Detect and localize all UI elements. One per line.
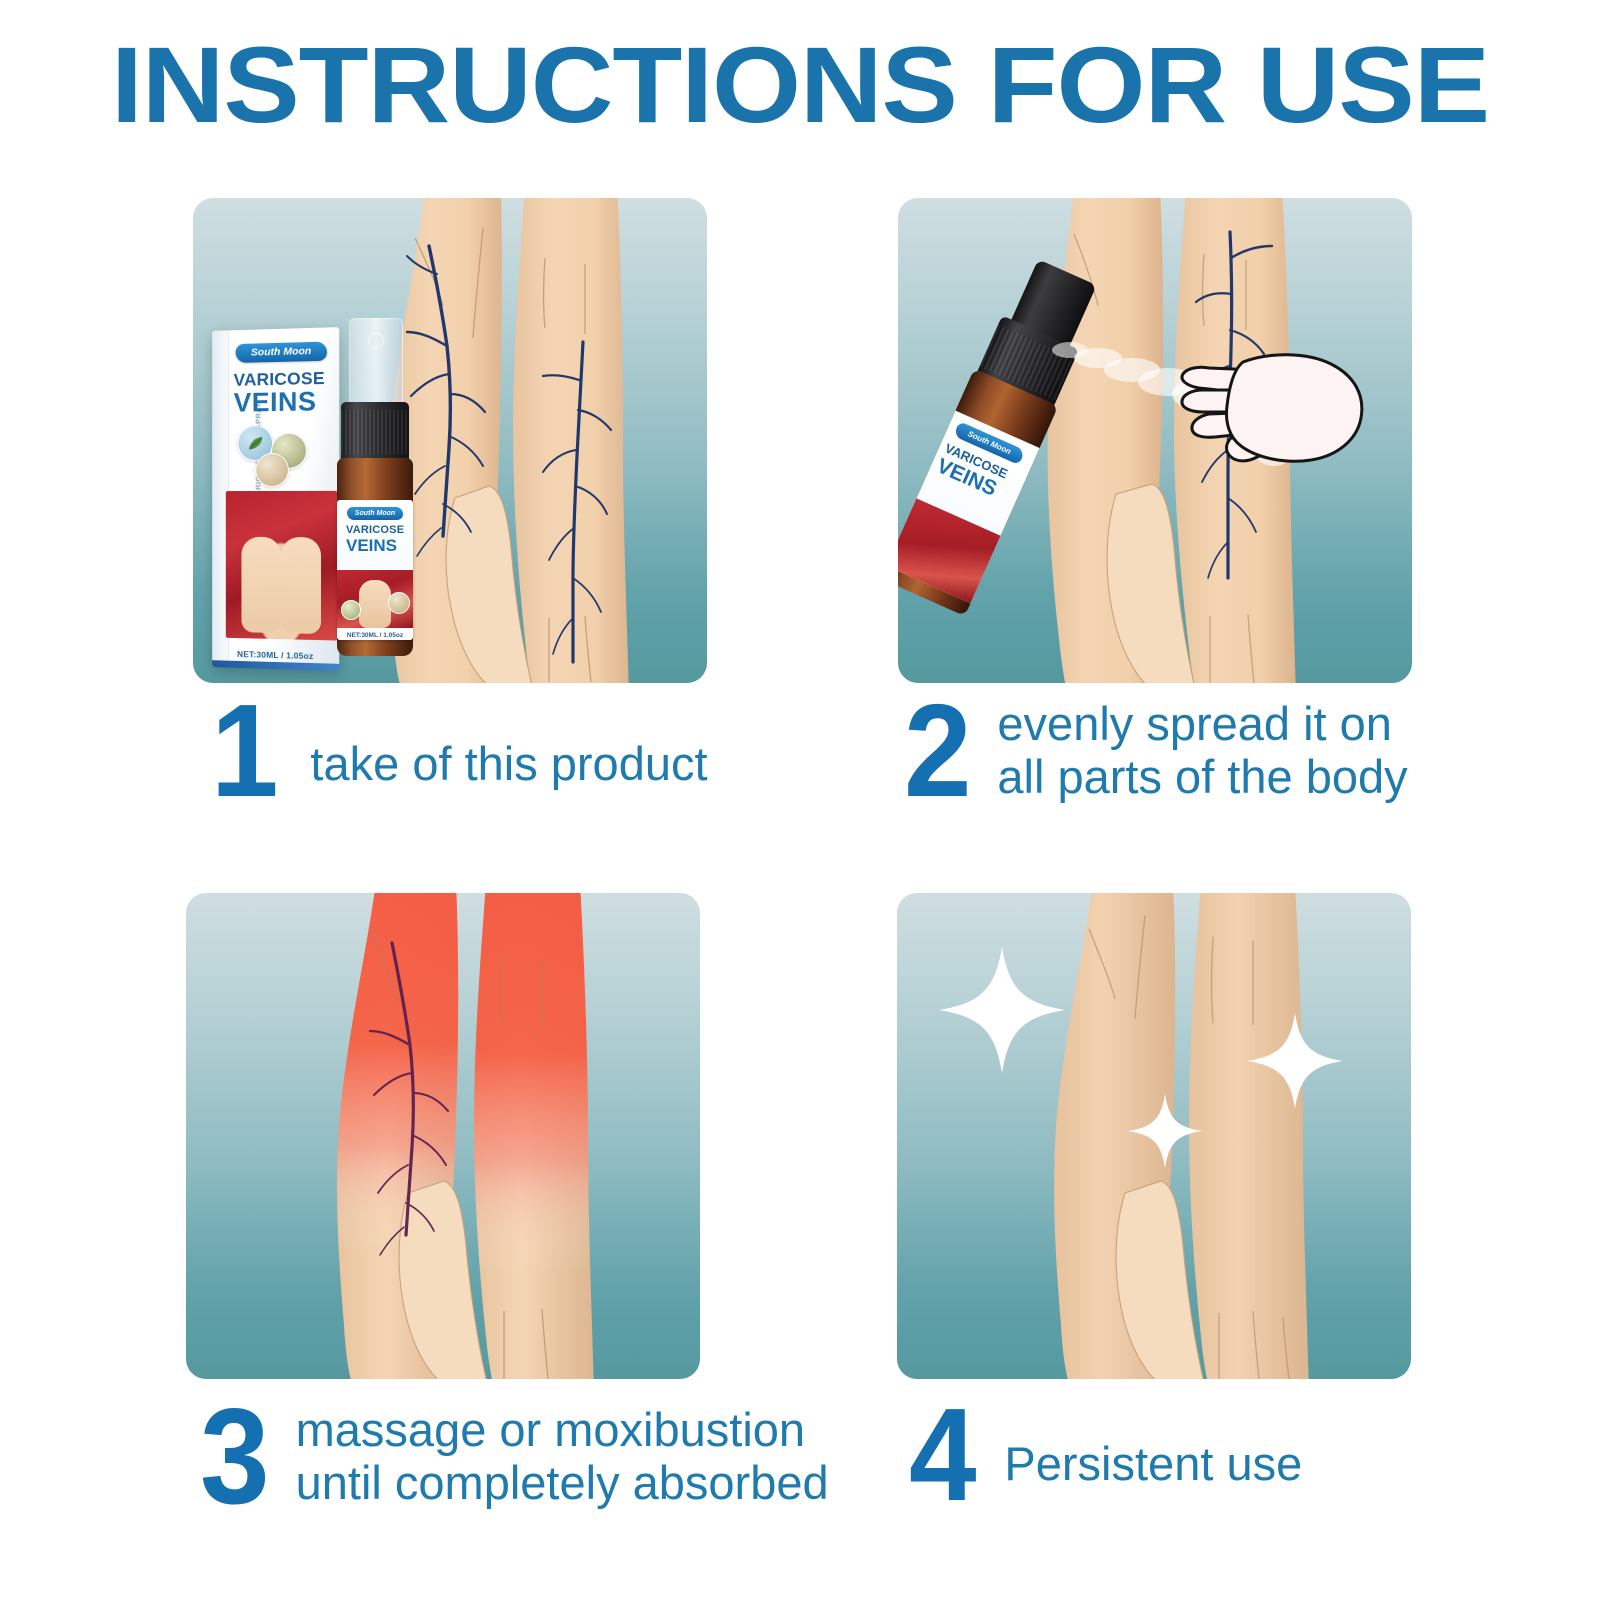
step-3-number: 3 (200, 1401, 270, 1513)
box-artwork-leg-right (281, 537, 321, 634)
product-photo-panel: VARICOSE VEINS SPRAY South Moon VARICOSE… (193, 198, 707, 683)
step-2-number: 2 (904, 697, 972, 805)
herb-circle-seed-icon (255, 453, 289, 487)
warming-massage-panel (186, 893, 700, 1379)
product-group: VARICOSE VEINS SPRAY South Moon VARICOSE… (201, 275, 471, 675)
bottle-name-line1: VARICOSE (346, 524, 404, 536)
step-4-caption: 4 Persistent use (903, 1401, 1412, 1509)
step-3-cell: 3 massage or moxibustion until completel… (186, 893, 701, 1513)
step-1-cell: VARICOSE VEINS SPRAY South Moon VARICOSE… (193, 198, 708, 805)
bottle-leg-artwork (337, 570, 413, 628)
spray-bottle: South Moon VARICOSE VEINS NET:30ML / 1.0… (319, 318, 429, 663)
hand-icon (1173, 338, 1373, 473)
step-1-text: take of this product (310, 738, 707, 791)
step-3-text: massage or moxibustion until completely … (296, 1404, 829, 1509)
box-herb-icons (236, 422, 332, 483)
leaf-icon (246, 434, 264, 452)
step-1-number: 1 (211, 697, 279, 805)
bottle-clear-overcap (349, 318, 403, 410)
legs-illustration-heated (186, 893, 700, 1379)
step-2-caption: 2 evenly spread it on all parts of the b… (904, 697, 1413, 805)
bottle-spray-pump (341, 402, 409, 464)
bottle-name-line2: VEINS (346, 536, 397, 556)
result-panel (897, 893, 1411, 1379)
legs-illustration-clear (897, 893, 1411, 1379)
bottle-net-weight: NET:30ML / 1.05oz (337, 632, 413, 639)
bottle-label: South Moon VARICOSE VEINS NET:30ML / 1.0… (337, 500, 413, 640)
steps-grid: VARICOSE VEINS SPRAY South Moon VARICOSE… (0, 198, 1600, 1398)
box-brand-banner: South Moon (236, 342, 328, 363)
step-4-number: 4 (909, 1401, 977, 1509)
step-2-cell: South Moon VARICOSE VEINS (898, 198, 1413, 805)
spray-application-panel: South Moon VARICOSE VEINS (898, 198, 1412, 683)
box-artwork-leg-left (241, 537, 281, 633)
step-2-text: evenly spread it on all parts of the bod… (997, 698, 1407, 803)
step-1-caption: 1 take of this product (199, 697, 708, 805)
bottle-brand-banner: South Moon (347, 507, 403, 520)
step-4-cell: 4 Persistent use (897, 893, 1412, 1509)
bottle-herb-icon-left (341, 600, 361, 620)
step-3-caption: 3 massage or moxibustion until completel… (192, 1401, 701, 1513)
bottle-herb-icon-right (388, 592, 410, 614)
page-title: INSTRUCTIONS FOR USE (0, 28, 1600, 142)
step-4-text: Persistent use (1004, 1438, 1302, 1491)
